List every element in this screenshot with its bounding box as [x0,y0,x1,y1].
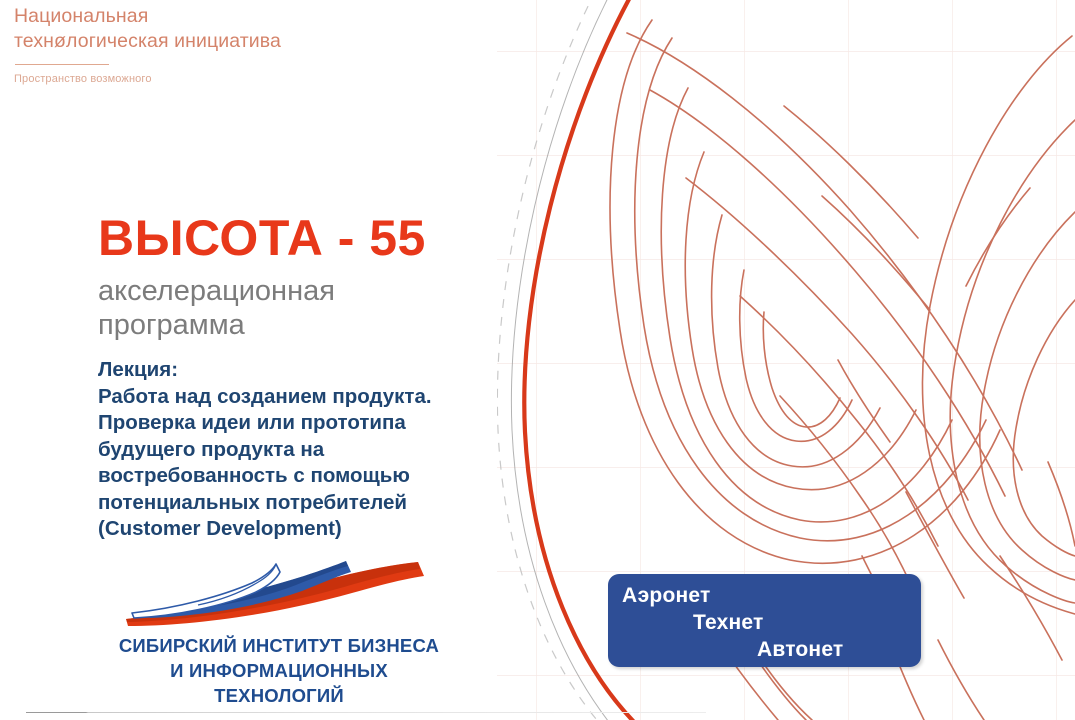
presentation-slide: Национальная технøлогическая инициатива … [0,0,1075,720]
page-subtitle: акселерационная программа [98,274,335,342]
nti-logo-line2: технøлогическая инициатива [14,29,314,54]
market-label-avtonet: Автонет [757,638,843,662]
sibit-swoosh-icon [118,556,428,628]
nti-logo-divider [15,64,109,65]
nti-logo-tagline: Пространство возможного [14,72,314,86]
thin-grey-arc [511,0,612,720]
sibit-logo-name: СИБИРСКИЙ ИНСТИТУТ БИЗНЕСА И ИНФОРМАЦИОН… [104,633,454,708]
nti-logo: Национальная технøлогическая инициатива … [14,4,314,86]
page-title: ВЫСОТА - 55 [98,210,426,266]
dashed-grey-arc [497,0,602,720]
nti-logo-line1: Национальная [14,4,314,29]
markets-callout-box: Аэронет Технет Автонет [608,574,921,667]
market-label-aeronet: Аэронет [622,584,710,608]
footer-divider [26,712,706,713]
sibit-logo: СИБИРСКИЙ ИНСТИТУТ БИЗНЕСА И ИНФОРМАЦИОН… [104,556,454,708]
lecture-description: Лекция: Работа над созданием продукта. П… [98,357,478,543]
market-label-technet: Технет [693,611,763,635]
